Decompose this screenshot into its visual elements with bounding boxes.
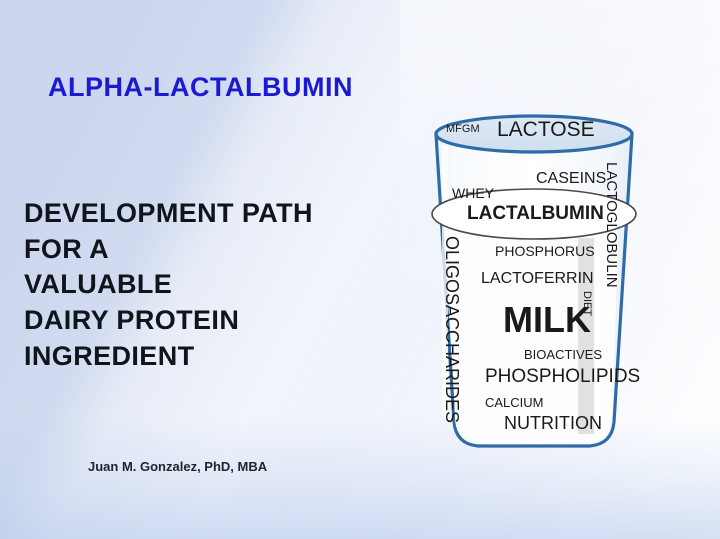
author-byline: Juan M. Gonzalez, PhD, MBA [88, 459, 267, 474]
slide-title: ALPHA-LACTALBUMIN [48, 72, 353, 103]
glass-word-phospholipids: PHOSPHOLIPIDS [485, 366, 640, 388]
glass-word-lactoferrin: LACTOFERRIN [481, 270, 594, 288]
glass-word-milk: MILK [503, 299, 591, 341]
presentation-slide: ALPHA-LACTALBUMIN DEVELOPMENT PATH FOR A… [0, 0, 720, 539]
glass-word-lactoglobulin: LACTOGLOBULIN [603, 162, 620, 288]
slide-headline: DEVELOPMENT PATH FOR A VALUABLE DAIRY PR… [24, 196, 313, 374]
glass-word-mfgm: MFGM [446, 123, 480, 135]
headline-line-4: DAIRY PROTEIN [24, 303, 313, 339]
glass-word-caseins: CASEINS [536, 170, 606, 188]
glass-word-lactose: LACTOSE [497, 118, 595, 142]
glass-word-phosphorus: PHOSPHORUS [495, 243, 595, 259]
headline-line-2: FOR A [24, 232, 313, 268]
glass-word-oligosaccharides: OLIGOSACCHARIDES [441, 236, 462, 423]
glass-word-calcium: CALCIUM [485, 395, 544, 410]
glass-word-lactalbumin: LACTALBUMIN [467, 203, 604, 225]
glass-word-bioactives: BIOACTIVES [524, 347, 602, 362]
headline-line-5: INGREDIENT [24, 339, 313, 375]
milk-glass-graphic: MFGM LACTOSE CASEINS WHEY LACTALBUMIN PH… [418, 110, 648, 455]
headline-line-1: DEVELOPMENT PATH [24, 196, 313, 232]
glass-word-nutrition: NUTRITION [504, 413, 602, 434]
headline-line-3: VALUABLE [24, 267, 313, 303]
glass-word-whey: WHEY [452, 185, 494, 201]
glass-word-diet: DIET [581, 291, 593, 316]
